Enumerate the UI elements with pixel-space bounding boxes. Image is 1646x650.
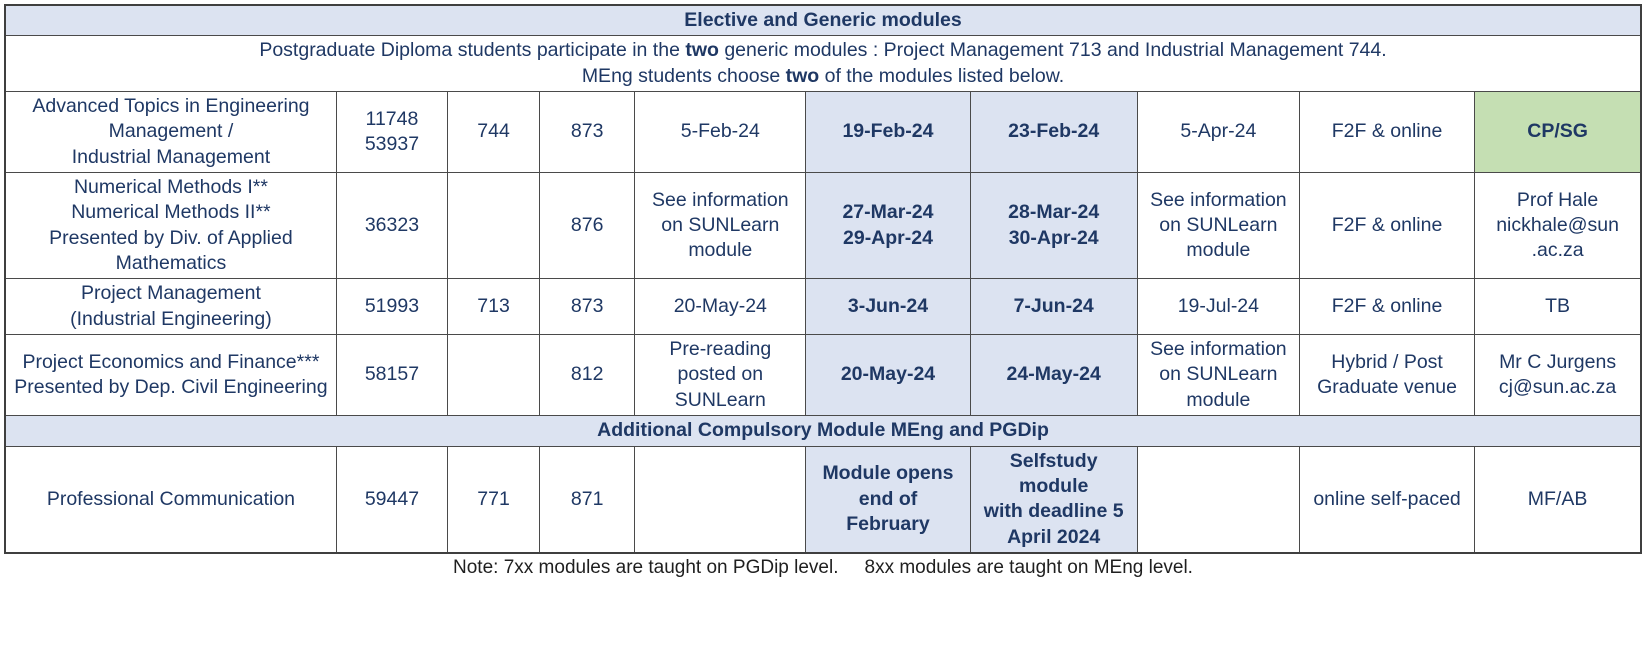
module-name: Numerical Methods I** Numerical Methods … <box>5 173 336 279</box>
section-header-row: Additional Compulsory Module MEng and PG… <box>5 416 1641 446</box>
module-schedule-table: Elective and Generic modules Postgraduat… <box>4 4 1642 554</box>
contact-date-1: 3-Jun-24 <box>806 279 970 335</box>
lecturer: CP/SG <box>1475 92 1641 173</box>
end-date: 19-Jul-24 <box>1137 279 1299 335</box>
pgdip-level: 771 <box>448 446 540 553</box>
module-code: 51993 <box>336 279 447 335</box>
meng-level: 812 <box>540 335 635 416</box>
intro-row: Postgraduate Diploma students participat… <box>5 36 1641 92</box>
table-row: Numerical Methods I** Numerical Methods … <box>5 173 1641 279</box>
module-code: 59447 <box>336 446 447 553</box>
intro-text: Postgraduate Diploma students participat… <box>5 36 1641 92</box>
table-row: Project Management (Industrial Engineeri… <box>5 279 1641 335</box>
pgdip-level <box>448 335 540 416</box>
footnote-part-1: Note: 7xx modules are taught on PGDip le… <box>453 557 838 578</box>
module-code: 36323 <box>336 173 447 279</box>
meng-level: 876 <box>540 173 635 279</box>
delivery-mode: online self-paced <box>1299 446 1474 553</box>
meng-level: 873 <box>540 92 635 173</box>
start-date: See information on SUNLearn module <box>635 173 806 279</box>
contact-date-2: 7-Jun-24 <box>970 279 1137 335</box>
contact-date-2: 28-Mar-24 30-Apr-24 <box>970 173 1137 279</box>
end-date: See information on SUNLearn module <box>1137 335 1299 416</box>
table-row: Advanced Topics in Engineering Managemen… <box>5 92 1641 173</box>
contact-date-2: Selfstudy module with deadline 5 April 2… <box>970 446 1137 553</box>
start-date: 20-May-24 <box>635 279 806 335</box>
intro-line-2: MEng students choose two of the modules … <box>10 64 1636 89</box>
meng-level: 871 <box>540 446 635 553</box>
contact-date-1: Module opens end of February <box>806 446 970 553</box>
lecturer: Prof Hale nickhale@sun .ac.za <box>1475 173 1641 279</box>
module-code: 11748 53937 <box>336 92 447 173</box>
module-code: 58157 <box>336 335 447 416</box>
lecturer: Mr C Jurgens cj@sun.ac.za <box>1475 335 1641 416</box>
end-date <box>1137 446 1299 553</box>
delivery-mode: F2F & online <box>1299 173 1474 279</box>
module-name: Project Management (Industrial Engineeri… <box>5 279 336 335</box>
intro-line-1: Postgraduate Diploma students participat… <box>10 38 1636 63</box>
lecturer: MF/AB <box>1475 446 1641 553</box>
table-row: Professional Communication 59447 771 871… <box>5 446 1641 553</box>
pgdip-level <box>448 173 540 279</box>
module-name: Professional Communication <box>5 446 336 553</box>
contact-date-2: 24-May-24 <box>970 335 1137 416</box>
footnote-part-2: 8xx modules are taught on MEng level. <box>865 557 1193 578</box>
section-title-compulsory: Additional Compulsory Module MEng and PG… <box>5 416 1641 446</box>
end-date: 5-Apr-24 <box>1137 92 1299 173</box>
table-row: Project Economics and Finance*** Present… <box>5 335 1641 416</box>
schedule-page: Elective and Generic modules Postgraduat… <box>0 4 1646 650</box>
contact-date-1: 27-Mar-24 29-Apr-24 <box>806 173 970 279</box>
section-title-elective: Elective and Generic modules <box>5 5 1641 36</box>
lecturer: TB <box>1475 279 1641 335</box>
meng-level: 873 <box>540 279 635 335</box>
delivery-mode: F2F & online <box>1299 279 1474 335</box>
module-name: Advanced Topics in Engineering Managemen… <box>5 92 336 173</box>
start-date <box>635 446 806 553</box>
start-date: 5-Feb-24 <box>635 92 806 173</box>
footnote: Note: 7xx modules are taught on PGDip le… <box>4 557 1642 579</box>
delivery-mode: F2F & online <box>1299 92 1474 173</box>
pgdip-level: 713 <box>448 279 540 335</box>
end-date: See information on SUNLearn module <box>1137 173 1299 279</box>
module-name: Project Economics and Finance*** Present… <box>5 335 336 416</box>
delivery-mode: Hybrid / Post Graduate venue <box>1299 335 1474 416</box>
contact-date-1: 20-May-24 <box>806 335 970 416</box>
start-date: Pre-reading posted on SUNLearn <box>635 335 806 416</box>
pgdip-level: 744 <box>448 92 540 173</box>
contact-date-1: 19-Feb-24 <box>806 92 970 173</box>
section-header-row: Elective and Generic modules <box>5 5 1641 36</box>
contact-date-2: 23-Feb-24 <box>970 92 1137 173</box>
